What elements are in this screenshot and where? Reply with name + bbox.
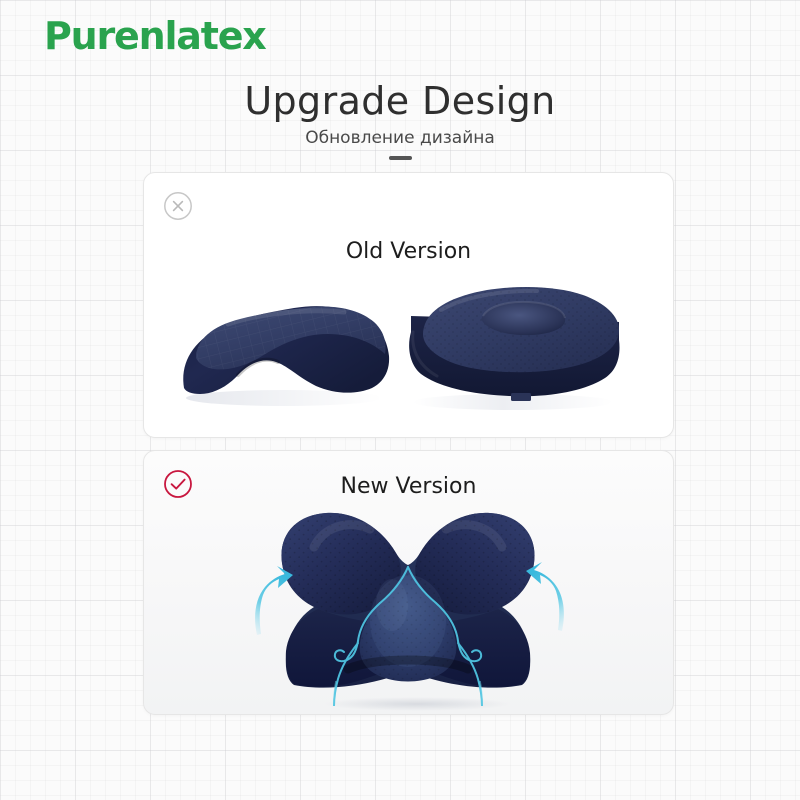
lift-arrow-right [524,559,572,638]
butterfly-wing-memory-foam-pillow-front-view [252,501,565,711]
brand-logo-text-secondary: latex [164,14,265,58]
brand-logo-text-primary: Puren [44,14,164,58]
new-version-label: New Version [144,474,673,500]
old-version-product-stage [144,268,673,433]
page-heading-block: Upgrade Design Обновление дизайна [0,78,800,160]
new-version-card: New Version [143,450,674,715]
lift-arrow-left [247,563,295,642]
brand-logo: Purenlatex [44,16,266,56]
cavity-memory-foam-pillow-top-view [391,270,636,420]
page-title: Upgrade Design [0,78,800,124]
old-version-card: Old Version [143,172,674,438]
old-version-label: Old Version [144,239,673,265]
new-version-product-stage [144,501,673,714]
product-infographic-page: Purenlatex Upgrade Design Обновление диз… [0,0,800,800]
contour-memory-foam-pillow-side-view [166,276,396,416]
title-divider [389,156,412,160]
page-subtitle: Обновление дизайна [0,127,800,149]
close-circle-icon [163,191,193,221]
